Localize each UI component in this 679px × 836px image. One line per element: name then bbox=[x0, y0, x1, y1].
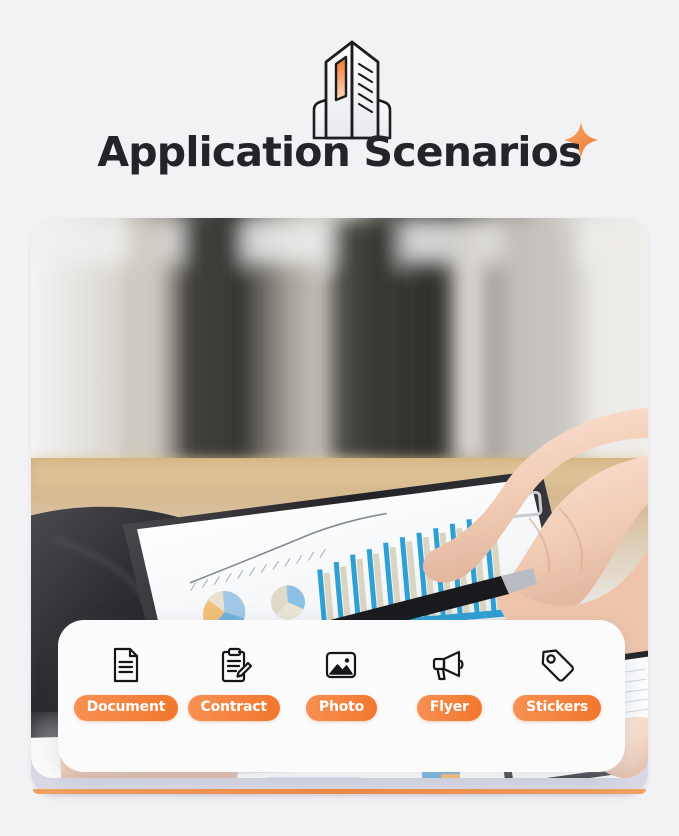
image-icon bbox=[322, 646, 360, 684]
categories-card: Document Contract bbox=[58, 620, 625, 772]
category-item-document[interactable]: Document bbox=[74, 646, 178, 721]
megaphone-icon bbox=[430, 646, 468, 684]
category-item-contract[interactable]: Contract bbox=[182, 646, 286, 721]
category-item-flyer[interactable]: Flyer bbox=[397, 646, 501, 721]
category-chip-row: Document Contract bbox=[58, 646, 625, 721]
category-label-contract[interactable]: Contract bbox=[188, 695, 280, 721]
page-title: Application Scenarios bbox=[0, 128, 679, 176]
category-label-document[interactable]: Document bbox=[74, 695, 179, 721]
category-item-stickers[interactable]: Stickers bbox=[505, 646, 609, 721]
tag-icon bbox=[538, 646, 576, 684]
category-label-photo[interactable]: Photo bbox=[306, 695, 377, 721]
building-icon bbox=[296, 38, 408, 142]
application-scenarios-page: Application Scenarios bbox=[0, 0, 679, 836]
category-item-photo[interactable]: Photo bbox=[289, 646, 393, 721]
clipboard-pencil-icon bbox=[215, 646, 253, 684]
category-label-stickers[interactable]: Stickers bbox=[513, 695, 601, 721]
category-label-flyer[interactable]: Flyer bbox=[417, 695, 482, 721]
document-icon bbox=[107, 646, 145, 684]
frame-accent-underline bbox=[33, 789, 646, 794]
header: Application Scenarios bbox=[0, 0, 679, 210]
